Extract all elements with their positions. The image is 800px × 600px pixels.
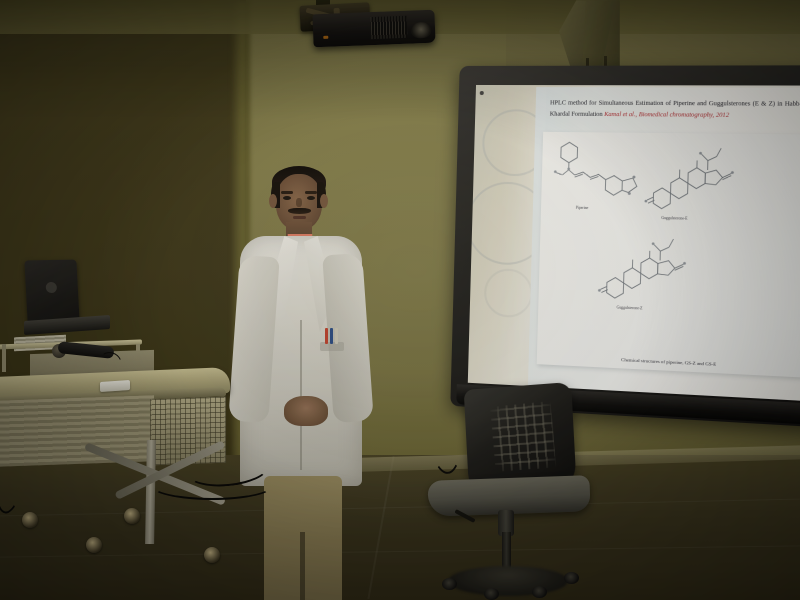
pocket-pens (325, 328, 339, 344)
photo-scene: HPLC method for Simultaneous Estimation … (0, 0, 800, 600)
molecule-piperine (551, 138, 653, 203)
chair-caster-4 (564, 572, 579, 584)
whiteboard-surface[interactable]: HPLC method for Simultaneous Estimation … (468, 85, 800, 401)
lectern-leg-column (145, 440, 156, 544)
whiteboard-sensor-dot (480, 91, 484, 95)
presenter-ear-right (320, 194, 328, 208)
chair-caster-3 (532, 586, 547, 598)
watermark-ring-3 (484, 268, 534, 318)
chair-perforation-pattern (490, 401, 556, 472)
eye-right (307, 196, 315, 200)
presenter-mustache (288, 208, 311, 214)
laptop-lid[interactable] (24, 260, 79, 323)
presenter-nose (296, 198, 302, 207)
brow-left (281, 191, 293, 194)
slide-figure-panel: Piperine (537, 132, 800, 378)
presenter (228, 160, 378, 580)
shelf-post-left (2, 344, 6, 372)
lectern-caster-front (86, 537, 102, 553)
chair-caster-1 (442, 578, 457, 590)
molecule-label-piperine: Piperine (576, 206, 588, 210)
mobile-phone[interactable] (100, 380, 130, 392)
brow-right (305, 191, 317, 194)
eye-left (283, 196, 291, 200)
molecule-guggulsterone-z (596, 227, 689, 308)
slide-reference-citation: Kamal et al., Biomedical chromatography,… (604, 112, 729, 119)
presenter-ear-left (269, 194, 277, 208)
office-chair[interactable] (424, 386, 610, 600)
slide-title-line-1: HPLC method for Simultaneous Estimation … (550, 100, 750, 107)
interactive-whiteboard[interactable]: HPLC method for Simultaneous Estimation … (450, 65, 800, 427)
molecule-guggulsterone-e (642, 135, 736, 218)
lab-coat-button-placket (300, 320, 302, 470)
projected-slide: HPLC method for Simultaneous Estimation … (528, 87, 800, 401)
presenter-mouth (293, 216, 306, 219)
trouser-leg-gap (300, 532, 305, 600)
slide-title-block: HPLC method for Simultaneous Estimation … (550, 98, 800, 122)
lectern-caster-right (204, 547, 220, 563)
cabinet-caster-left (22, 512, 38, 528)
molecule-label-guggulsterone-z: Guggulsterone-Z (617, 305, 643, 310)
projector-lens-icon (411, 22, 432, 39)
lectern-caster-mid (124, 508, 140, 524)
projector-power-led (323, 36, 328, 39)
floor (0, 455, 800, 600)
molecule-label-guggulsterone-e: Guggulsterone-E (661, 216, 687, 221)
chair-caster-2 (484, 588, 499, 600)
presenter-clasped-hands (284, 396, 328, 426)
laptop-logo-icon (46, 282, 58, 293)
projector-vent (371, 16, 408, 39)
ceiling-projector (312, 10, 435, 48)
chair-five-star-base (448, 566, 568, 596)
figure-caption: Chemical structures of piperine, GS-Z an… (537, 353, 800, 371)
